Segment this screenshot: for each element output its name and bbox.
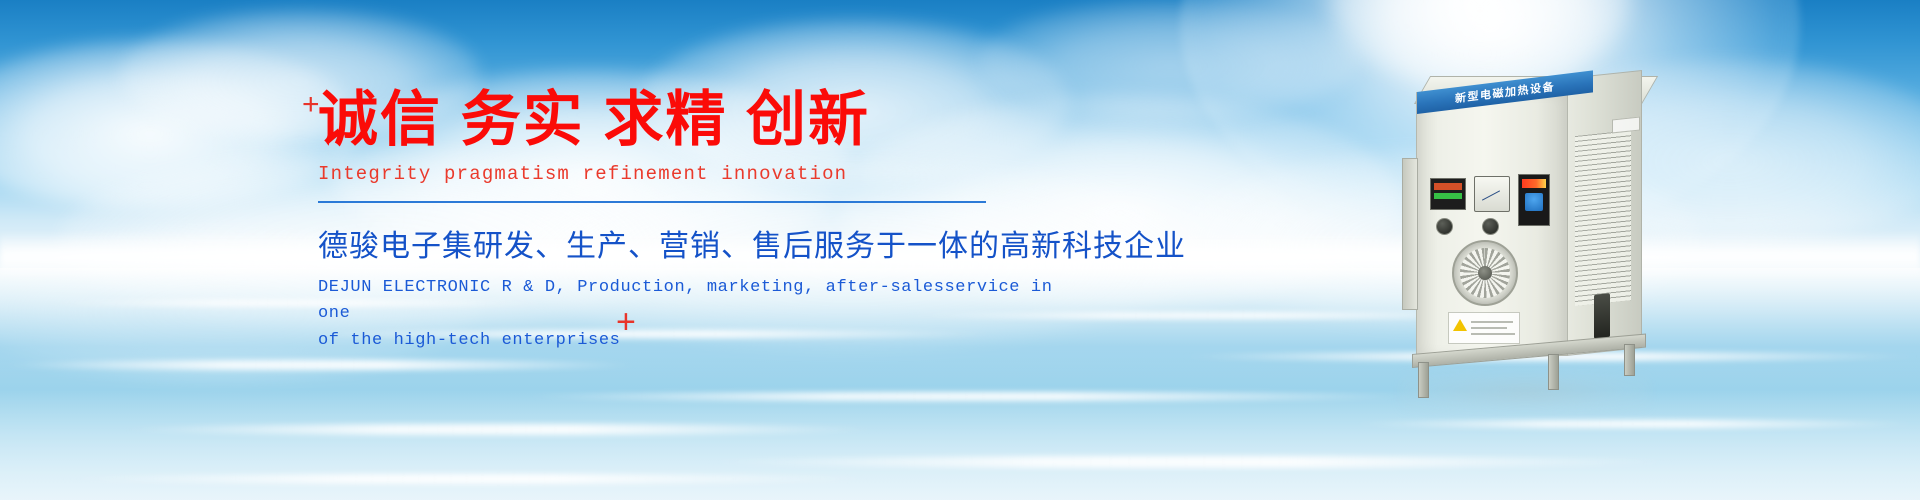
water-streak (520, 392, 1420, 401)
water-streak (0, 360, 640, 370)
keypad-buttons (1525, 193, 1543, 211)
machine-warning-sticker (1448, 312, 1520, 344)
description-chinese: 德骏电子集研发、生产、营销、售后服务于一体的高新科技企业 (318, 221, 1078, 265)
description-english: DEJUN ELECTRONIC R & D, Production, mark… (318, 275, 1078, 354)
banner-text-block: 诚信 务实 求精 创新 Integrity pragmatism refinem… (318, 88, 1078, 354)
machine-leg (1418, 362, 1429, 398)
machine-left-strip (1402, 158, 1418, 310)
machine-leg (1624, 344, 1635, 376)
divider-rule (318, 201, 986, 203)
water-streak (700, 456, 1680, 468)
description-english-line-2: of the high-tech enterprises (318, 328, 1078, 354)
headline-chinese: 诚信 务实 求精 创新 (318, 88, 1078, 151)
warning-triangle-icon (1453, 319, 1467, 331)
machine-analog-gauge (1474, 176, 1510, 212)
product-machine-image: 新型电磁加热设备 (1396, 62, 1656, 392)
machine-control-keypad (1518, 174, 1550, 226)
machine-cooling-fan (1452, 240, 1518, 306)
machine-side-badge (1612, 117, 1640, 134)
water-streak (60, 474, 880, 484)
water-streak (120, 424, 880, 435)
machine-vent-grille (1575, 130, 1631, 306)
hero-banner: + + 诚信 务实 求精 创新 Integrity pragmatism ref… (0, 0, 1920, 500)
headline-english: Integrity pragmatism refinement innovati… (318, 163, 1078, 185)
water-streak (1350, 420, 1920, 428)
description-english-line-1: DEJUN ELECTRONIC R & D, Production, mark… (318, 275, 1078, 328)
machine-handle (1594, 293, 1610, 339)
machine-digital-display (1430, 178, 1466, 210)
machine-knob (1482, 218, 1499, 235)
plus-decoration-top: + (302, 90, 320, 120)
machine-knob (1436, 218, 1453, 235)
keypad-readout (1522, 179, 1546, 188)
machine-leg (1548, 354, 1559, 390)
